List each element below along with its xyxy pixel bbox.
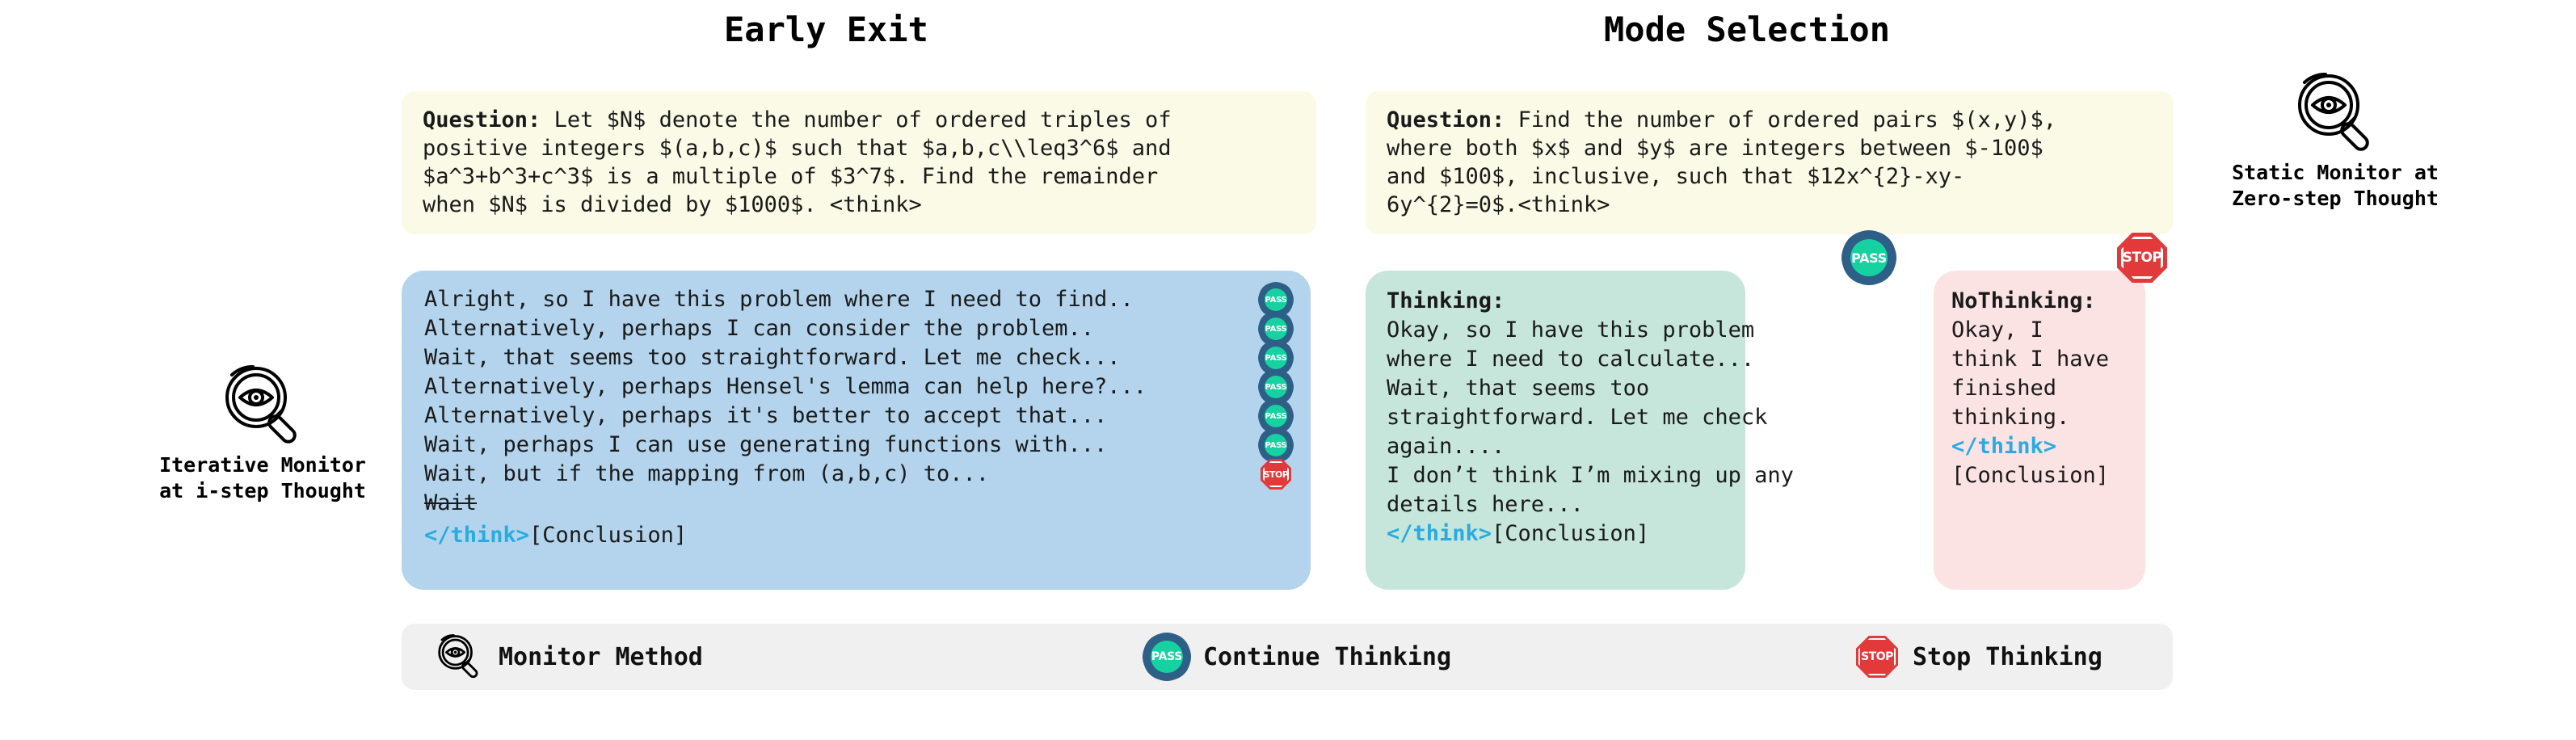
stop-sign-icon: STOP bbox=[2117, 233, 2167, 283]
annotation-line-2: at i-step Thought bbox=[129, 478, 396, 504]
thought-row-close: </think>[Conclusion] bbox=[424, 521, 1291, 550]
stop-sign-icon: STOP bbox=[1261, 459, 1291, 490]
right-question-box: Question: Find the number of ordered pai… bbox=[1366, 91, 2174, 234]
legend-label: Monitor Method bbox=[499, 643, 703, 671]
pass-badge-icon: PASS bbox=[1261, 343, 1291, 373]
nothinking-panel-stop-badge: STOP bbox=[2117, 233, 2167, 286]
pass-badge-icon: PASS bbox=[1145, 635, 1189, 679]
legend-label: Stop Thinking bbox=[1913, 643, 2102, 671]
close-think-tag: </think> bbox=[424, 523, 529, 548]
left-question-text-1: Let $N$ denote the number of ordered tri… bbox=[541, 107, 1171, 132]
nothinking-panel: NoThinking: Okay, I think I have finishe… bbox=[1934, 271, 2145, 590]
thinking-line: Wait, that seems too bbox=[1387, 374, 1726, 403]
nothinking-line: think I have bbox=[1951, 345, 2129, 374]
thinking-line: where I need to calculate... bbox=[1387, 345, 1726, 374]
nothinking-line: finished bbox=[1951, 374, 2129, 403]
left-question-line-2: positive integers $(a,b,c)$ such that $a… bbox=[423, 134, 1295, 162]
thinking-panel-pass-badge: PASS bbox=[1844, 233, 1894, 286]
annotation-line-1: Iterative Monitor bbox=[129, 452, 396, 478]
right-question-line-1: Question: Find the number of ordered pai… bbox=[1387, 106, 2153, 134]
thought-text: Wait, that seems too straightforward. Le… bbox=[424, 343, 1121, 372]
thinking-line: Okay, so I have this problem bbox=[1387, 316, 1726, 345]
thinking-close-row: </think>[Conclusion] bbox=[1387, 519, 1726, 549]
thought-row-struck: Wait bbox=[424, 489, 1291, 518]
stop-sign-icon: STOP bbox=[1856, 636, 1898, 678]
left-question-line-1: Question: Let $N$ denote the number of o… bbox=[423, 106, 1295, 134]
thought-row: Alternatively, perhaps it's better to ac… bbox=[424, 402, 1291, 431]
right-question-label: Question: bbox=[1387, 107, 1505, 132]
legend-item-monitor-method: Monitor Method bbox=[434, 633, 1145, 680]
left-question-label: Question: bbox=[423, 107, 541, 132]
thinking-line: again.... bbox=[1387, 432, 1726, 461]
left-question-box: Question: Let $N$ denote the number of o… bbox=[402, 91, 1316, 234]
thought-text: Wait, perhaps I can use generating funct… bbox=[424, 431, 1107, 460]
nothinking-heading: NoThinking: bbox=[1951, 287, 2129, 316]
thought-row: Alternatively, perhaps I can consider th… bbox=[424, 314, 1291, 343]
thought-row: Alright, so I have this problem where I … bbox=[424, 285, 1291, 314]
legend-bar: Monitor Method PASS Continue Thinking ST… bbox=[402, 624, 2173, 690]
right-question-line-2: where both $x$ and $y$ are integers betw… bbox=[1387, 134, 2153, 162]
section-title-mode-selection: Mode Selection bbox=[1604, 10, 1890, 49]
thinking-line: details here... bbox=[1387, 490, 1726, 519]
right-question-text-1: Find the number of ordered pairs $(x,y)$… bbox=[1505, 107, 2056, 132]
pass-badge-icon: PASS bbox=[1261, 430, 1291, 460]
thought-text: Alternatively, perhaps I can consider th… bbox=[424, 314, 1094, 343]
nothinking-line: Okay, I bbox=[1951, 316, 2129, 345]
annotation-line-2: Zero-step Thought bbox=[2190, 186, 2481, 212]
close-think-tag: </think> bbox=[1387, 521, 1492, 546]
pass-badge-icon: PASS bbox=[1261, 401, 1291, 431]
magnifier-eye-icon bbox=[2290, 71, 2380, 155]
conclusion-text: [Conclusion] bbox=[1492, 521, 1649, 546]
pass-badge-icon: PASS bbox=[1261, 284, 1291, 315]
magnifier-eye-icon bbox=[434, 633, 484, 680]
section-title-early-exit: Early Exit bbox=[724, 10, 928, 49]
thinking-line: I don’t think I’m mixing up any bbox=[1387, 461, 1726, 490]
thought-row: Wait, but if the mapping from (a,b,c) to… bbox=[424, 460, 1291, 489]
thought-text: Alright, so I have this problem where I … bbox=[424, 285, 1134, 314]
close-think-row: </think>[Conclusion] bbox=[424, 521, 687, 550]
nothinking-line: thinking. bbox=[1951, 403, 2129, 432]
pass-badge-icon: PASS bbox=[1844, 233, 1894, 283]
right-question-line-4: 6y^{2}=0$.<think> bbox=[1387, 191, 2153, 219]
thought-text: Wait, but if the mapping from (a,b,c) to… bbox=[424, 460, 989, 489]
conclusion-text: [Conclusion] bbox=[1951, 461, 2129, 490]
thinking-line: straightforward. Let me check bbox=[1387, 403, 1726, 432]
right-question-line-3: and $100$, inclusive, such that $12x^{2}… bbox=[1387, 162, 2153, 191]
close-think-tag: </think> bbox=[1951, 432, 2129, 461]
annotation-line-1: Static Monitor at bbox=[2190, 160, 2481, 186]
thought-row: Wait, perhaps I can use generating funct… bbox=[424, 431, 1291, 460]
conclusion-text: [Conclusion] bbox=[529, 523, 687, 548]
thinking-heading: Thinking: bbox=[1387, 287, 1726, 316]
thinking-panel: Thinking: Okay, so I have this problem w… bbox=[1366, 271, 1745, 590]
left-question-line-3: $a^3+b^3+c^3$ is a multiple of $3^7$. Fi… bbox=[423, 162, 1295, 191]
magnifier-eye-icon bbox=[217, 364, 308, 448]
left-question-line-4: when $N$ is divided by $1000$. <think> bbox=[423, 191, 1295, 219]
thought-row: Wait, that seems too straightforward. Le… bbox=[424, 343, 1291, 372]
pass-badge-icon: PASS bbox=[1261, 372, 1291, 402]
static-monitor-annotation: Static Monitor at Zero-step Thought bbox=[2190, 71, 2481, 212]
iterative-monitor-annotation: Iterative Monitor at i-step Thought bbox=[129, 364, 396, 504]
struck-thought-text: Wait bbox=[424, 489, 477, 518]
thought-row: Alternatively, perhaps Hensel's lemma ca… bbox=[424, 372, 1291, 402]
thought-text: Alternatively, perhaps Hensel's lemma ca… bbox=[424, 372, 1147, 402]
thought-text: Alternatively, perhaps it's better to ac… bbox=[424, 402, 1107, 431]
legend-item-stop-thinking: STOP Stop Thinking bbox=[1856, 636, 2102, 678]
iterative-thought-box: Alright, so I have this problem where I … bbox=[402, 271, 1311, 590]
pass-badge-icon: PASS bbox=[1261, 313, 1291, 344]
legend-label: Continue Thinking bbox=[1203, 643, 1451, 671]
legend-item-continue-thinking: PASS Continue Thinking bbox=[1145, 635, 1856, 679]
